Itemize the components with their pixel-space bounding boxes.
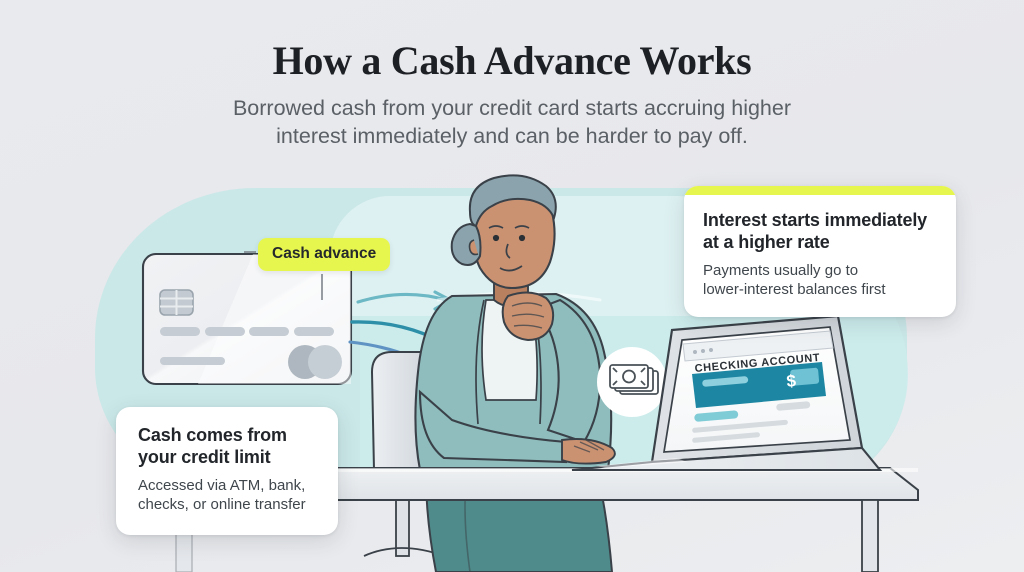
- page-title: How a Cash Advance Works: [0, 40, 1024, 82]
- infographic-canvas: $ CHECKING ACCOUNT How a Cash Advance Wo…: [0, 0, 1024, 572]
- callout-interest-body: Payments usually go to lower-interest ba…: [703, 261, 937, 300]
- cash-advance-label: Cash advance: [258, 238, 390, 271]
- card-chip-icon: [160, 290, 193, 315]
- cash-stack-icon: [597, 347, 667, 417]
- callout-interest-heading: Interest starts immediately at a higher …: [703, 210, 937, 254]
- callout-interest-body-line-2: lower-interest balances first: [703, 281, 886, 298]
- callout-interest-heading-line-1: Interest starts immediately: [703, 210, 927, 230]
- card-network-logo-icon: [288, 345, 342, 379]
- page-subtitle: Borrowed cash from your credit card star…: [192, 94, 832, 151]
- subtitle-line-1: Borrowed cash from your credit card star…: [192, 94, 832, 122]
- header: How a Cash Advance Works Borrowed cash f…: [0, 40, 1024, 151]
- callout-credit-limit-heading: Cash comes from your credit limit: [138, 425, 318, 469]
- callout-credit-limit-heading-line-2: your credit limit: [138, 447, 270, 467]
- callout-interest-heading-line-2: at a higher rate: [703, 232, 830, 252]
- person-thinking-icon: [415, 175, 614, 572]
- flow-arrow-1: [358, 292, 450, 309]
- callout-interest-body-line-1: Payments usually go to: [703, 262, 858, 279]
- callout-credit-limit-heading-line-1: Cash comes from: [138, 425, 287, 445]
- callout-interest: Interest starts immediately at a higher …: [684, 186, 956, 317]
- callout-accent-bar: [684, 186, 956, 195]
- credit-card-icon: [143, 252, 351, 384]
- callout-credit-limit-body: Accessed via ATM, bank, checks, or onlin…: [138, 476, 318, 515]
- callout-credit-limit: Cash comes from your credit limit Access…: [116, 407, 338, 535]
- callout-credit-limit-body-line-1: Accessed via ATM, bank,: [138, 477, 305, 494]
- subtitle-line-2: interest immediately and can be harder t…: [192, 122, 832, 150]
- callout-credit-limit-body-line-2: checks, or online transfer: [138, 496, 306, 513]
